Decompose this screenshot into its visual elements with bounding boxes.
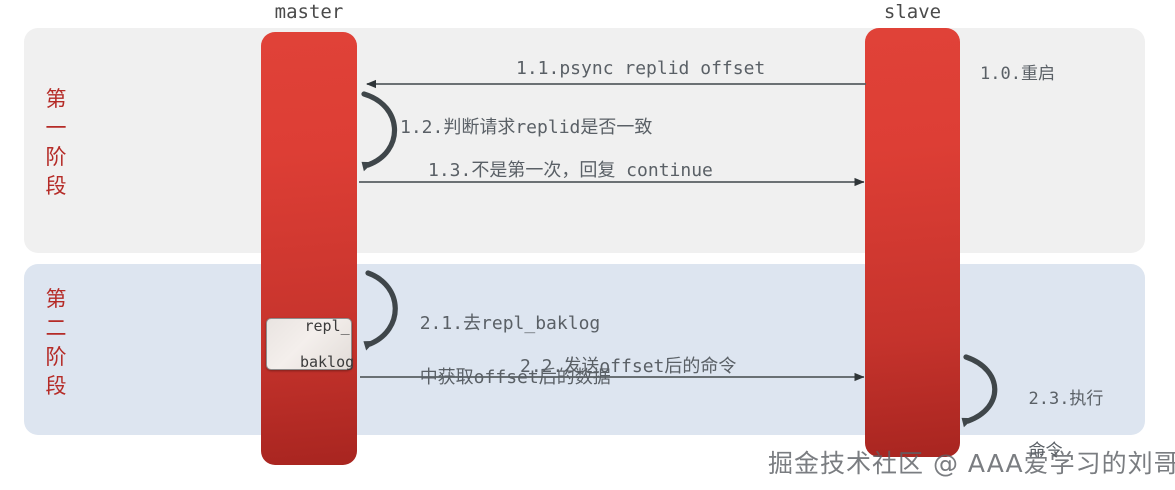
message-label-1-1: 1.1.psync replid offset: [516, 58, 765, 79]
message-label-2-3-line1: 2.3.执行: [1028, 389, 1103, 409]
message-label-2-2: 2.2.发送offset后的命令: [520, 352, 736, 378]
self-loop-2-1: [368, 273, 395, 344]
self-loop-2-3: [966, 357, 995, 421]
self-loop-1-2: [364, 94, 395, 165]
message-label-2-1-line1: 2.1.去repl_baklog: [420, 313, 601, 334]
message-label-1-3: 1.3.不是第一次，回复 continue: [428, 156, 713, 182]
message-label-1-0: 1.0.重启: [980, 59, 1055, 84]
watermark-text: 掘金技术社区 @ AAA爱学习的刘哥: [768, 444, 1175, 480]
message-label-1-2: 1.2.判断请求replid是否一致: [400, 113, 652, 139]
